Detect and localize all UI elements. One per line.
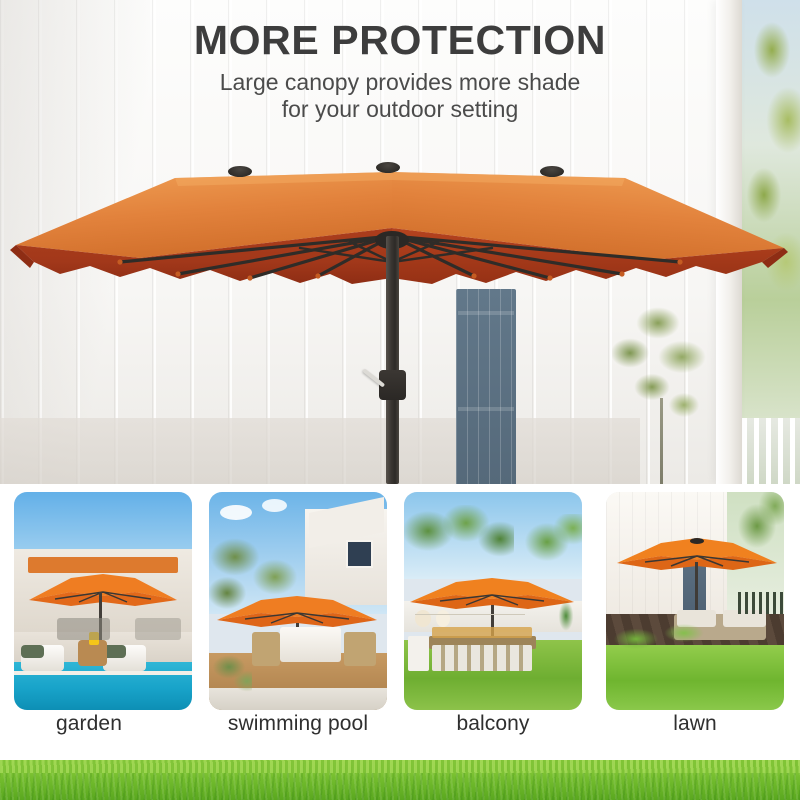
scene-lawn [404, 492, 582, 710]
thumbnail-swimming-pool[interactable] [14, 492, 192, 710]
scene-swimming-pool [14, 492, 192, 710]
headline-block: MORE PROTECTION Large canopy provides mo… [0, 18, 800, 124]
grass-footer-band [0, 760, 800, 800]
porch-railing [742, 418, 800, 484]
finial-left [228, 166, 252, 177]
patio-umbrella [0, 150, 800, 330]
thumbnail-lawn[interactable] [404, 492, 582, 710]
umbrella-canopy-svg [0, 150, 800, 330]
thumbnail-row [0, 492, 800, 710]
caption-lawn: lawn [606, 712, 784, 736]
scene-balcony [209, 492, 387, 710]
patio-floor [0, 418, 640, 484]
subtitle-line-1: Large canopy provides more shade [0, 69, 800, 96]
umbrella-pole [386, 236, 399, 484]
caption-garden: garden [0, 712, 178, 736]
caption-swimming-pool: swimming pool [209, 712, 387, 736]
finial-right [540, 166, 564, 177]
subtitle-line-2: for your outdoor setting [0, 96, 800, 123]
thumbnail-balcony[interactable] [209, 492, 387, 710]
caption-balcony: balcony [404, 712, 582, 736]
scene-garden [606, 492, 784, 710]
page-title: MORE PROTECTION [0, 18, 800, 62]
thumbnail-garden[interactable] [606, 492, 784, 710]
finial-center [376, 162, 400, 173]
grass-tips [0, 760, 800, 773]
usage-scenario-gallery: swimming pool balcony lawn garden [0, 484, 800, 760]
